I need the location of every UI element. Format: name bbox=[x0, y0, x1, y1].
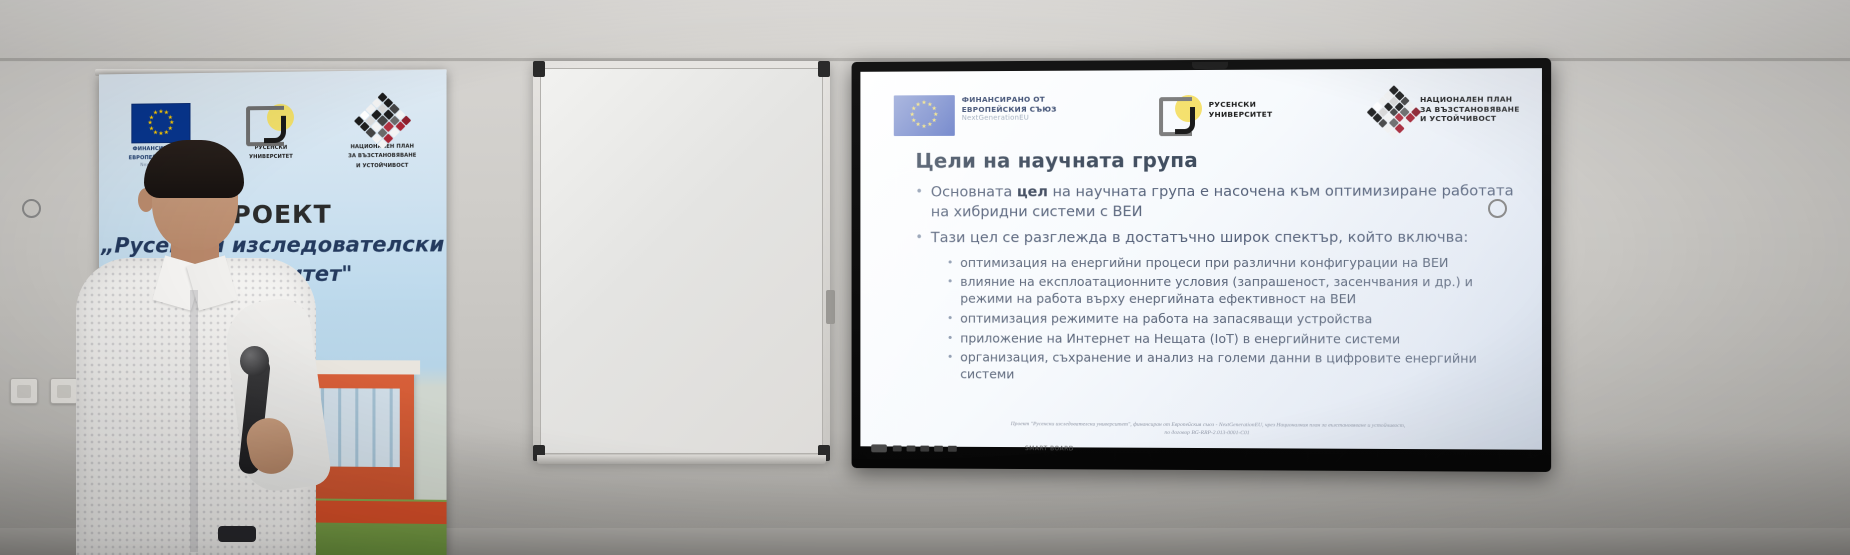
slide-footer-line2: по договор BG-RRP-2.013-0001-C01 bbox=[900, 428, 1520, 439]
slide-sub-bullet-text: оптимизация на енергийни процеси при раз… bbox=[960, 254, 1448, 271]
banner-logo-national-plan: НАЦИОНАЛЕН ПЛАН ЗА ВЪЗСТАНОВЯВАНЕ И УСТО… bbox=[330, 100, 434, 170]
screen-mount-knob-left bbox=[22, 199, 41, 218]
presentation-clicker[interactable] bbox=[218, 526, 256, 542]
slide-sub-bullet-text: влияние на експлоатационните условия (за… bbox=[960, 274, 1515, 308]
bullet-lead-normal: Основната bbox=[931, 183, 1017, 200]
slide-sub-bullet-text: приложение на Интернет на Нещата (IoT) в… bbox=[960, 330, 1400, 348]
slide-sub-bullet-list: • оптимизация на енергийни процеси при р… bbox=[947, 254, 1516, 385]
display-brand-badge: SMART BOARD bbox=[1025, 445, 1074, 452]
slide-logo-row: ★★★★★★★★★★★★ ФИНАНСИРАНО ОТ ЕВРОПЕЙСКИЯ … bbox=[894, 92, 1520, 141]
slide-sub-bullet-text: организация, съхранение и анализ на голе… bbox=[960, 350, 1515, 385]
presenter-hair bbox=[144, 140, 244, 198]
slide-eu-line1: ФИНАНСИРАНО ОТ bbox=[962, 95, 1057, 105]
wall-socket-left[interactable] bbox=[10, 378, 38, 404]
source-button[interactable] bbox=[907, 446, 916, 452]
whiteboard[interactable] bbox=[533, 61, 830, 461]
power-led-icon bbox=[871, 444, 887, 452]
volume-down-button[interactable] bbox=[920, 446, 929, 452]
whiteboard-surface[interactable] bbox=[540, 68, 823, 454]
national-plan-icon bbox=[354, 92, 411, 149]
display-button-row[interactable] bbox=[893, 443, 1011, 456]
slide-np-line2: ЗА ВЪЗСТАНОВЯВАНЕ bbox=[1420, 104, 1520, 114]
banner-np-line3: И УСТОЙЧИВОСТ bbox=[356, 163, 408, 170]
display-screen[interactable]: ★★★★★★★★★★★★ ФИНАНСИРАНО ОТ ЕВРОПЕЙСКИЯ … bbox=[852, 58, 1552, 472]
menu-button[interactable] bbox=[893, 445, 902, 451]
slide-bullet-text: Тази цел се разглежда в достатъчно широк… bbox=[931, 228, 1469, 248]
presentation-slide: ★★★★★★★★★★★★ ФИНАНСИРАНО ОТ ЕВРОПЕЙСКИЯ … bbox=[860, 68, 1542, 450]
bullet-dot-icon: • bbox=[947, 255, 953, 272]
volume-up-button[interactable] bbox=[934, 446, 943, 452]
power-button[interactable] bbox=[948, 446, 957, 452]
bullet-dot-icon: • bbox=[947, 350, 953, 383]
slide-logo-university: РУСЕНСКИ УНИВЕРСИТЕТ bbox=[1158, 94, 1273, 134]
slide-uni-line2: УНИВЕРСИТЕТ bbox=[1209, 109, 1273, 119]
slide-title: Цели на научната група bbox=[915, 148, 1198, 173]
slide-bullet: • Основната цел на научната група е насо… bbox=[915, 181, 1515, 221]
whiteboard-corner-top-right bbox=[818, 61, 830, 77]
slide-uni-line1: РУСЕНСКИ bbox=[1209, 100, 1273, 110]
whiteboard-marker-tray bbox=[537, 455, 826, 464]
slide-sub-bullet: • оптимизация режимите на работа на запа… bbox=[947, 311, 1516, 329]
presenter bbox=[66, 140, 326, 555]
camera-icon bbox=[1192, 62, 1228, 69]
slide-footer: Проект "Русенски изследователски универс… bbox=[900, 420, 1520, 439]
banner-np-line2: ЗА ВЪЗСТАНОВЯВАНЕ bbox=[348, 153, 416, 160]
microphone-head bbox=[240, 346, 269, 376]
slide-np-line3: И УСТОЙЧИВОСТ bbox=[1420, 114, 1520, 124]
whiteboard-corner-top-left bbox=[533, 61, 545, 77]
slide-sub-bullet: • оптимизация на енергийни процеси при р… bbox=[947, 254, 1516, 271]
bullet-lead-bold: цел bbox=[1017, 183, 1048, 200]
slide-sub-bullet: • влияние на експлоатационните условия (… bbox=[947, 274, 1516, 308]
wall-upper bbox=[0, 0, 1850, 62]
whiteboard-hinge bbox=[826, 290, 835, 324]
bullet-dot-icon: • bbox=[947, 274, 953, 307]
slide-eu-sub: NextGenerationEU bbox=[962, 114, 1057, 122]
ruse-university-icon bbox=[1158, 94, 1202, 134]
slide-logo-national-plan: НАЦИОНАЛЕН ПЛАН ЗА ВЪЗСТАНОВЯВАНЕ И УСТО… bbox=[1375, 92, 1520, 131]
slide-bullet-text: Основната цел на научната група е насоче… bbox=[931, 181, 1516, 221]
eu-flag-icon: ★★★★★★★★★★★★ bbox=[132, 103, 191, 143]
national-plan-icon bbox=[1367, 85, 1421, 139]
bullet-dot-icon: • bbox=[947, 330, 953, 347]
slide-sub-bullet: • приложение на Интернет на Нещата (IoT)… bbox=[947, 330, 1516, 348]
eu-flag-icon: ★★★★★★★★★★★★ bbox=[894, 95, 955, 136]
slide-body: • Основната цел на научната група е насо… bbox=[915, 181, 1515, 388]
slide-sub-bullet: • организация, съхранение и анализ на го… bbox=[947, 350, 1516, 385]
slide-eu-line2: ЕВРОПЕЙСКИЯ СЪЮЗ bbox=[962, 104, 1057, 114]
room-scene: ★★★★★★★★★★★★ ФИНАНСИРАНО ОТ ЕВРОПЕЙСКИЯ … bbox=[0, 0, 1850, 555]
ruse-university-icon bbox=[244, 102, 298, 143]
slide-bullet: • Тази цел се разглежда в достатъчно шир… bbox=[915, 228, 1515, 248]
bullet-dot-icon: • bbox=[947, 311, 953, 328]
bullet-dot-icon: • bbox=[915, 228, 923, 247]
slide-logo-eu: ★★★★★★★★★★★★ ФИНАНСИРАНО ОТ ЕВРОПЕЙСКИЯ … bbox=[894, 95, 1057, 136]
screen-mount-knob-right bbox=[1488, 199, 1507, 218]
bullet-dot-icon: • bbox=[915, 183, 923, 222]
slide-sub-bullet-text: оптимизация режимите на работа на запася… bbox=[960, 311, 1372, 328]
slide-np-line1: НАЦИОНАЛЕН ПЛАН bbox=[1420, 95, 1520, 105]
shirt-placket bbox=[190, 290, 198, 552]
